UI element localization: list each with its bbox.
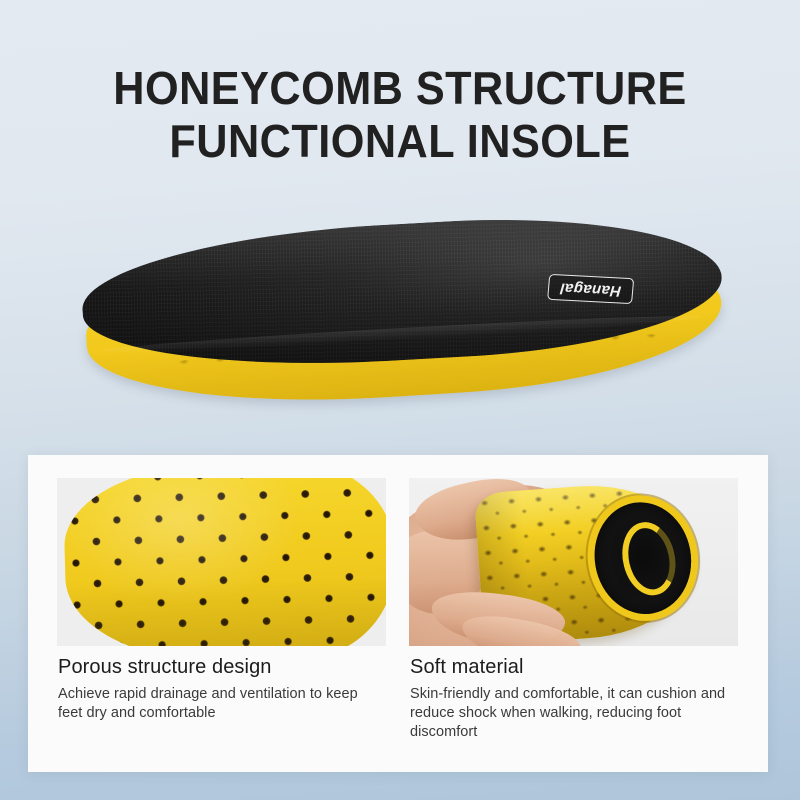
hero-product-image: Hanagal <box>78 216 726 406</box>
feature-body: Achieve rapid drainage and ventilation t… <box>58 685 386 723</box>
feature-porous-structure: Porous structure design Achieve rapid dr… <box>57 478 386 742</box>
page-title: HONEYCOMB STRUCTURE FUNCTIONAL INSOLE <box>24 62 776 169</box>
feature-image-porous <box>57 478 386 646</box>
porous-sheen-overlay <box>62 478 386 646</box>
title-line-2: FUNCTIONAL INSOLE <box>24 115 776 168</box>
features-card: Porous structure design Achieve rapid dr… <box>28 455 768 772</box>
brand-logo: Hanagal <box>547 274 634 304</box>
feature-soft-material: Soft material Skin-friendly and comforta… <box>409 478 738 742</box>
feature-heading: Soft material <box>410 656 738 679</box>
insole-illustration: Hanagal <box>78 216 726 406</box>
title-line-1: HONEYCOMB STRUCTURE <box>24 62 776 115</box>
feature-caption-soft-material: Soft material Skin-friendly and comforta… <box>409 646 738 742</box>
feature-heading: Porous structure design <box>58 656 386 679</box>
porous-insole-surface <box>62 478 386 646</box>
feature-caption-porous: Porous structure design Achieve rapid dr… <box>57 646 386 723</box>
features-grid: Porous structure design Achieve rapid dr… <box>57 478 739 742</box>
feature-image-soft-material <box>409 478 738 646</box>
feature-body: Skin-friendly and comfortable, it can cu… <box>410 685 738 742</box>
